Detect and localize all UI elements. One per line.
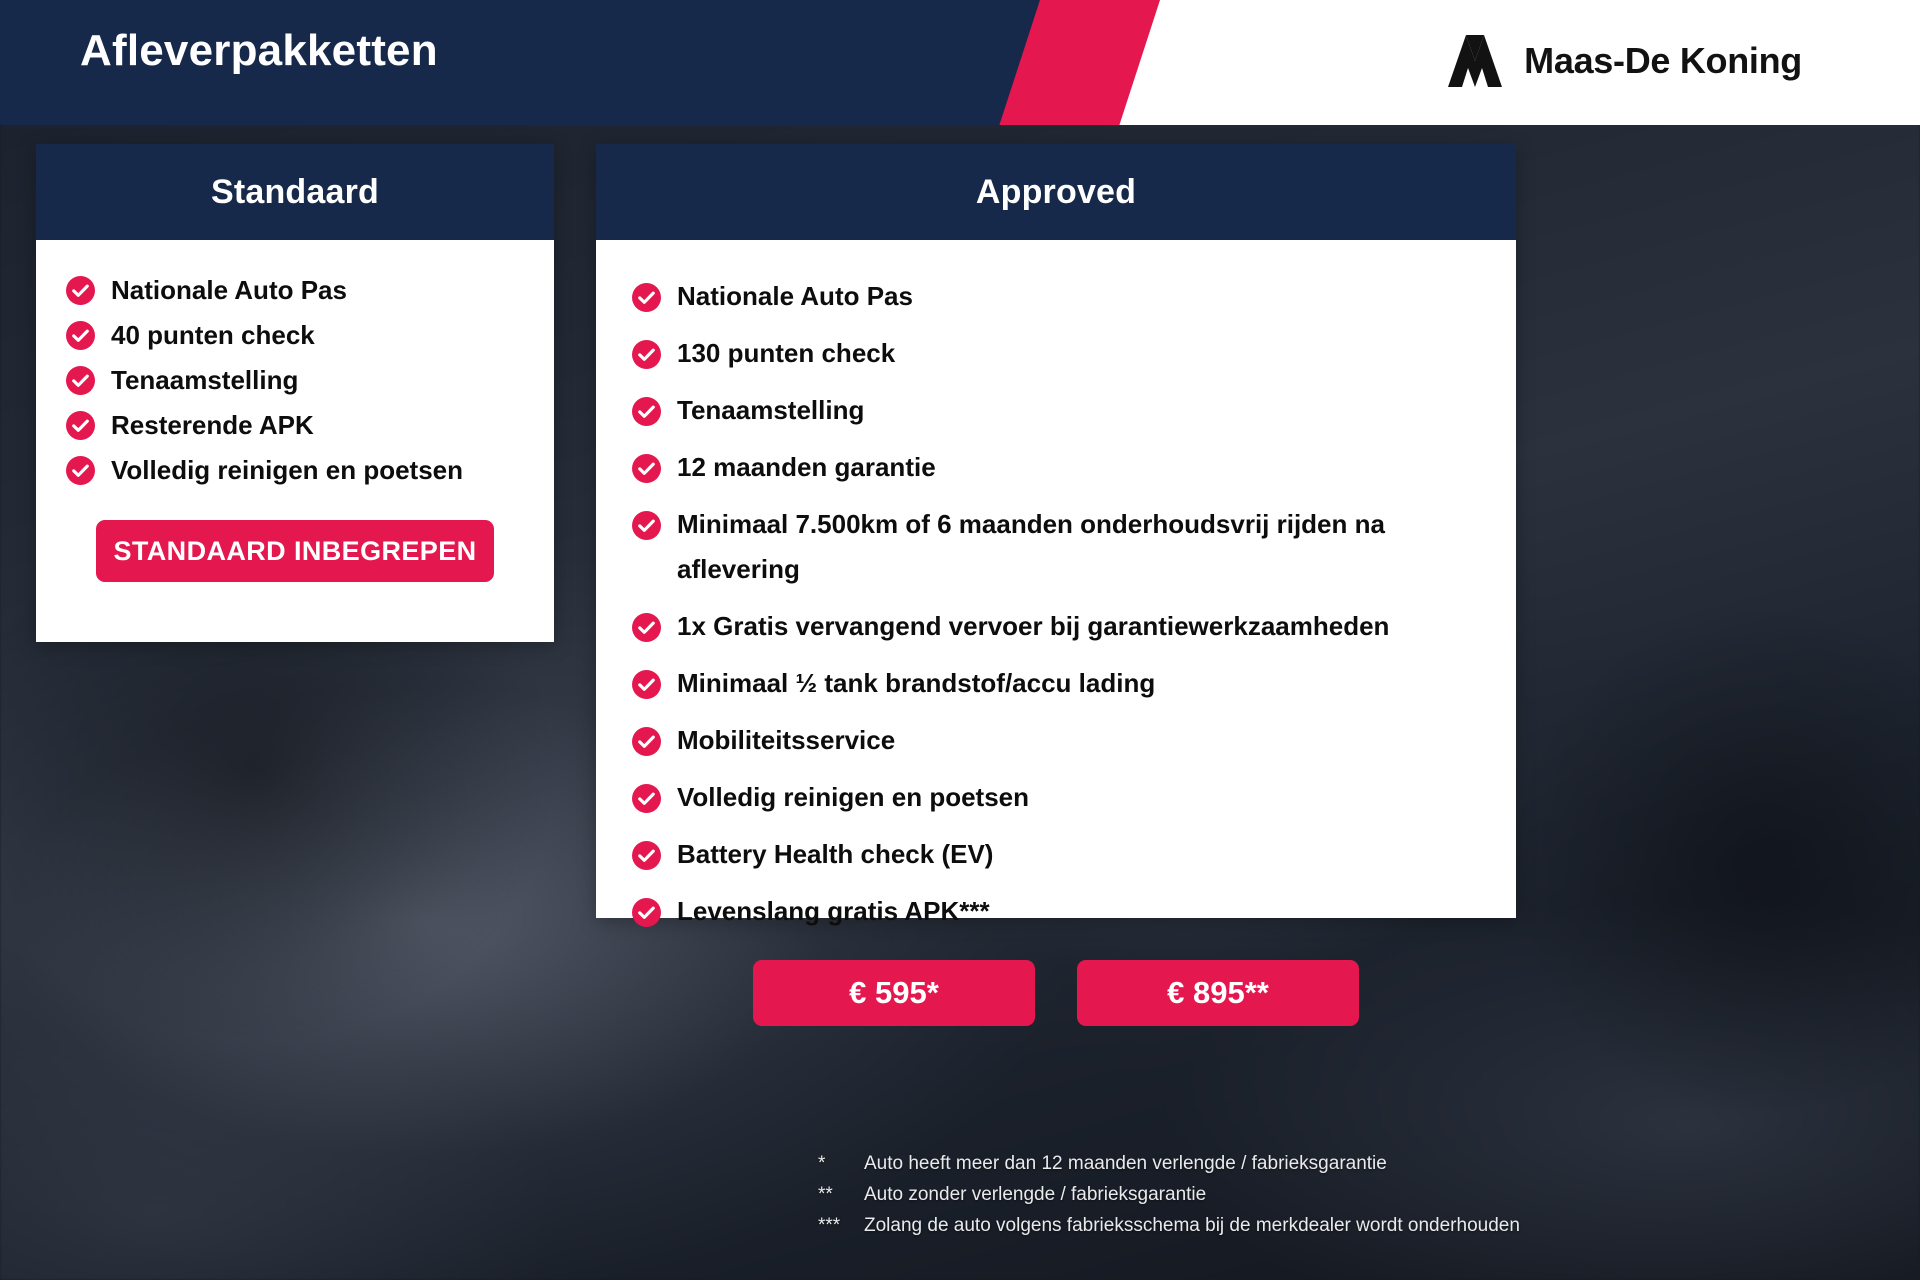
check-circle-icon xyxy=(632,727,661,756)
list-item: Mobiliteitsservice xyxy=(632,718,1480,763)
check-circle-icon xyxy=(66,321,95,350)
list-item: Tenaamstelling xyxy=(66,364,524,396)
list-item: Volledig reinigen en poetsen xyxy=(66,454,524,486)
feature-label: Resterende APK xyxy=(111,409,314,441)
check-circle-icon xyxy=(66,276,95,305)
feature-list-standaard: Nationale Auto Pas 40 punten check Tenaa… xyxy=(66,274,524,486)
brand-name: Maas-De Koning xyxy=(1524,40,1802,82)
price-button-895[interactable]: € 895** xyxy=(1077,960,1359,1026)
check-circle-icon xyxy=(632,283,661,312)
card-body-approved: Nationale Auto Pas 130 punten check Tena… xyxy=(596,240,1516,1026)
feature-label: Nationale Auto Pas xyxy=(677,274,913,319)
price-button-595[interactable]: € 595* xyxy=(753,960,1035,1026)
list-item: Levenslang gratis APK*** xyxy=(632,889,1480,934)
footnote-marker: * xyxy=(818,1148,864,1179)
footnote: *** Zolang de auto volgens fabrieksschem… xyxy=(818,1210,1520,1241)
feature-label: Mobiliteitsservice xyxy=(677,718,895,763)
card-header-approved: Approved xyxy=(596,144,1516,240)
check-circle-icon xyxy=(632,340,661,369)
feature-label: Minimaal ½ tank brandstof/accu lading xyxy=(677,661,1155,706)
list-item: Nationale Auto Pas xyxy=(632,274,1480,319)
card-header-standaard: Standaard xyxy=(36,144,554,240)
check-circle-icon xyxy=(632,613,661,642)
feature-label: Levenslang gratis APK*** xyxy=(677,889,990,934)
brand-lockup: Maas-De Koning xyxy=(1444,28,1802,94)
feature-label: Tenaamstelling xyxy=(111,364,298,396)
check-circle-icon xyxy=(632,784,661,813)
package-card-standaard: Standaard Nationale Auto Pas 40 punten c xyxy=(36,144,554,642)
check-circle-icon xyxy=(66,411,95,440)
check-circle-icon xyxy=(632,898,661,927)
package-card-approved: Approved Nationale Auto Pas 130 punten c xyxy=(596,144,1516,918)
page-header: Afleverpakketten Maas-De Koning xyxy=(0,0,1920,125)
afleverpakketten-infographic: Afleverpakketten Maas-De Koning Standaar… xyxy=(0,0,1920,1280)
list-item: Volledig reinigen en poetsen xyxy=(632,775,1480,820)
footnote-list: * Auto heeft meer dan 12 maanden verleng… xyxy=(818,1148,1520,1241)
feature-label: Minimaal 7.500km of 6 maanden onderhouds… xyxy=(677,502,1480,592)
footnote-text: Auto zonder verlengde / fabrieksgarantie xyxy=(864,1179,1206,1210)
footnote-marker: *** xyxy=(818,1210,864,1241)
list-item: Resterende APK xyxy=(66,409,524,441)
check-circle-icon xyxy=(632,454,661,483)
feature-label: Nationale Auto Pas xyxy=(111,274,347,306)
list-item: Nationale Auto Pas xyxy=(66,274,524,306)
list-item: Minimaal 7.500km of 6 maanden onderhouds… xyxy=(632,502,1480,592)
check-circle-icon xyxy=(632,511,661,540)
check-circle-icon xyxy=(66,366,95,395)
footnote: ** Auto zonder verlengde / fabrieksgaran… xyxy=(818,1179,1520,1210)
list-item: Minimaal ½ tank brandstof/accu lading xyxy=(632,661,1480,706)
check-circle-icon xyxy=(66,456,95,485)
card-title-standaard: Standaard xyxy=(211,173,379,212)
footnote-marker: ** xyxy=(818,1179,864,1210)
card-title-approved: Approved xyxy=(976,173,1136,212)
feature-label: 1x Gratis vervangend vervoer bij garanti… xyxy=(677,604,1389,649)
footnote: * Auto heeft meer dan 12 maanden verleng… xyxy=(818,1148,1520,1179)
feature-label: Battery Health check (EV) xyxy=(677,832,993,877)
feature-label: 12 maanden garantie xyxy=(677,445,936,490)
footnote-text: Zolang de auto volgens fabrieksschema bi… xyxy=(864,1210,1520,1241)
feature-label: 130 punten check xyxy=(677,331,895,376)
feature-label: 40 punten check xyxy=(111,319,315,351)
feature-label: Volledig reinigen en poetsen xyxy=(677,775,1029,820)
page-title: Afleverpakketten xyxy=(80,26,438,76)
list-item: 40 punten check xyxy=(66,319,524,351)
feature-label: Tenaamstelling xyxy=(677,388,864,433)
footnote-text: Auto heeft meer dan 12 maanden verlengde… xyxy=(864,1148,1387,1179)
check-circle-icon xyxy=(632,841,661,870)
feature-label: Volledig reinigen en poetsen xyxy=(111,454,463,486)
list-item: 130 punten check xyxy=(632,331,1480,376)
card-body-standaard: Nationale Auto Pas 40 punten check Tenaa… xyxy=(36,240,554,582)
check-circle-icon xyxy=(632,397,661,426)
price-button-row: € 595* € 895** xyxy=(632,960,1480,1026)
feature-list-approved: Nationale Auto Pas 130 punten check Tena… xyxy=(632,274,1480,934)
list-item: 1x Gratis vervangend vervoer bij garanti… xyxy=(632,604,1480,649)
standaard-included-button[interactable]: STANDAARD INBEGREPEN xyxy=(96,520,494,582)
list-item: Tenaamstelling xyxy=(632,388,1480,433)
list-item: 12 maanden garantie xyxy=(632,445,1480,490)
list-item: Battery Health check (EV) xyxy=(632,832,1480,877)
check-circle-icon xyxy=(632,670,661,699)
maas-de-koning-m-logo-icon xyxy=(1444,35,1506,87)
